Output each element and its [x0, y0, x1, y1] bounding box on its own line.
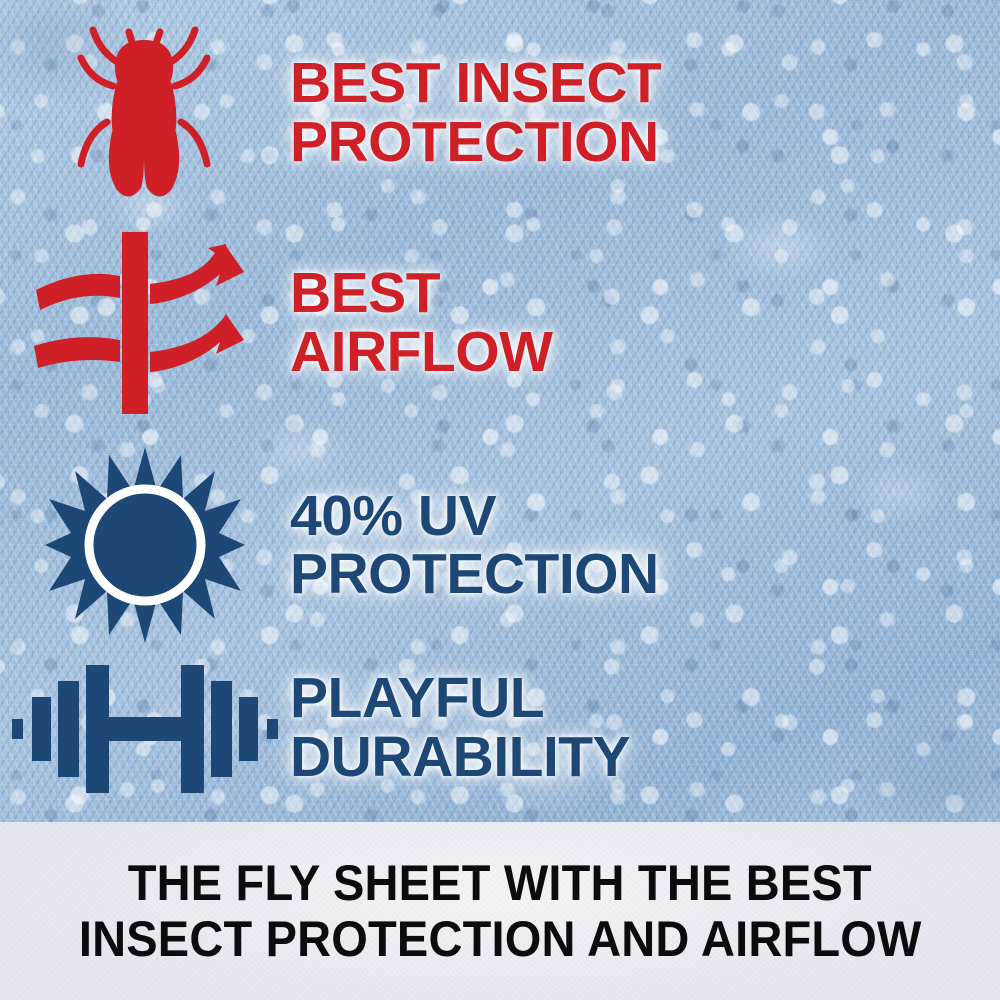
feature-row-insect-protection: BEST INSECT PROTECTION [0, 10, 1000, 215]
product-feature-poster: BEST INSECT PROTECTION BEST AIRFLOW [0, 0, 1000, 1000]
feature-label-durability: PLAYFUL DURABILITY [290, 669, 1000, 785]
airflow-text-cell: BEST AIRFLOW [290, 264, 1000, 380]
caption-text-block: THE FLY SHEET WITH THE BEST INSECT PROTE… [0, 822, 1000, 1000]
uv-protection-text-cell: 40% UV PROTECTION [290, 487, 1000, 603]
sun-uv-icon [40, 445, 250, 645]
caption-line-2: INSECT PROTECTION AND AIRFLOW [79, 911, 922, 968]
sun-uv-icon-cell [0, 445, 290, 645]
feature-row-durability: PLAYFUL DURABILITY [0, 645, 1000, 810]
fly-icon [55, 18, 235, 208]
airflow-icon [30, 228, 260, 418]
feature-row-uv-protection: 40% UV PROTECTION [0, 440, 1000, 650]
dumbbell-icon-cell [0, 653, 290, 803]
caption-band: THE FLY SHEET WITH THE BEST INSECT PROTE… [0, 822, 1000, 1000]
fly-icon-cell [0, 18, 290, 208]
durability-text-cell: PLAYFUL DURABILITY [290, 669, 1000, 785]
airflow-icon-cell [0, 228, 290, 418]
feature-row-airflow: BEST AIRFLOW [0, 225, 1000, 420]
feature-label-insect-protection: BEST INSECT PROTECTION [290, 54, 1000, 170]
insect-protection-text-cell: BEST INSECT PROTECTION [290, 54, 1000, 170]
feature-label-airflow: BEST AIRFLOW [290, 264, 1000, 380]
feature-label-uv-protection: 40% UV PROTECTION [290, 487, 1000, 603]
dumbbell-icon [10, 653, 280, 803]
caption-line-1: THE FLY SHEET WITH THE BEST [128, 855, 872, 912]
